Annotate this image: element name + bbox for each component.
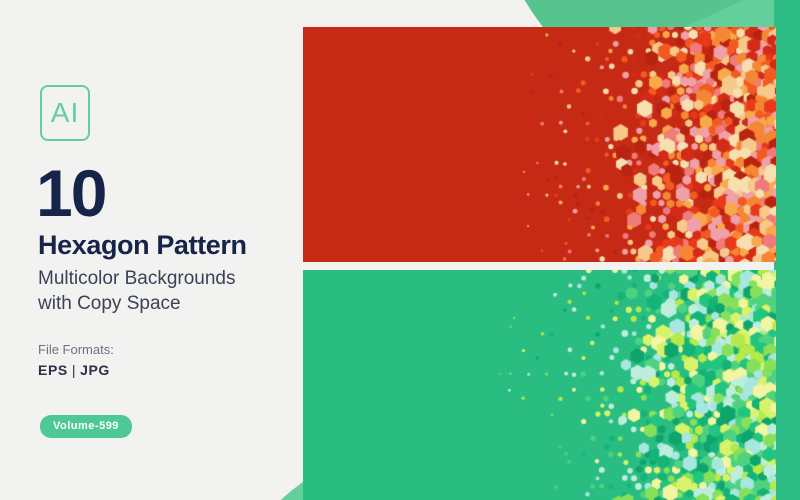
volume-badge: Volume-599	[40, 415, 132, 438]
green-pattern-canvas	[303, 270, 776, 500]
page-subtitle: Multicolor Backgrounds with Copy Space	[38, 266, 235, 316]
preview-red-hexagon-pattern[interactable]	[303, 27, 776, 262]
background-strip-right	[774, 0, 800, 500]
info-panel: AI 10 Hexagon Pattern Multicolor Backgro…	[0, 0, 300, 500]
page-subtitle-line1: Multicolor Backgrounds	[38, 266, 235, 291]
format-separator: |	[68, 362, 80, 378]
preview-green-hexagon-pattern[interactable]	[303, 270, 776, 500]
format-jpg: JPG	[80, 362, 110, 378]
page-title: Hexagon Pattern	[38, 232, 247, 259]
poster-canvas: AI 10 Hexagon Pattern Multicolor Backgro…	[0, 0, 800, 500]
page-subtitle-line2: with Copy Space	[38, 291, 235, 316]
red-pattern-canvas	[303, 27, 776, 262]
ai-badge-label: AI	[51, 99, 79, 127]
file-formats-label: File Formats:	[38, 342, 114, 357]
adobe-illustrator-icon: AI	[40, 85, 90, 141]
format-eps: EPS	[38, 362, 68, 378]
file-formats-value: EPS|JPG	[38, 362, 110, 378]
item-count: 10	[36, 160, 105, 226]
